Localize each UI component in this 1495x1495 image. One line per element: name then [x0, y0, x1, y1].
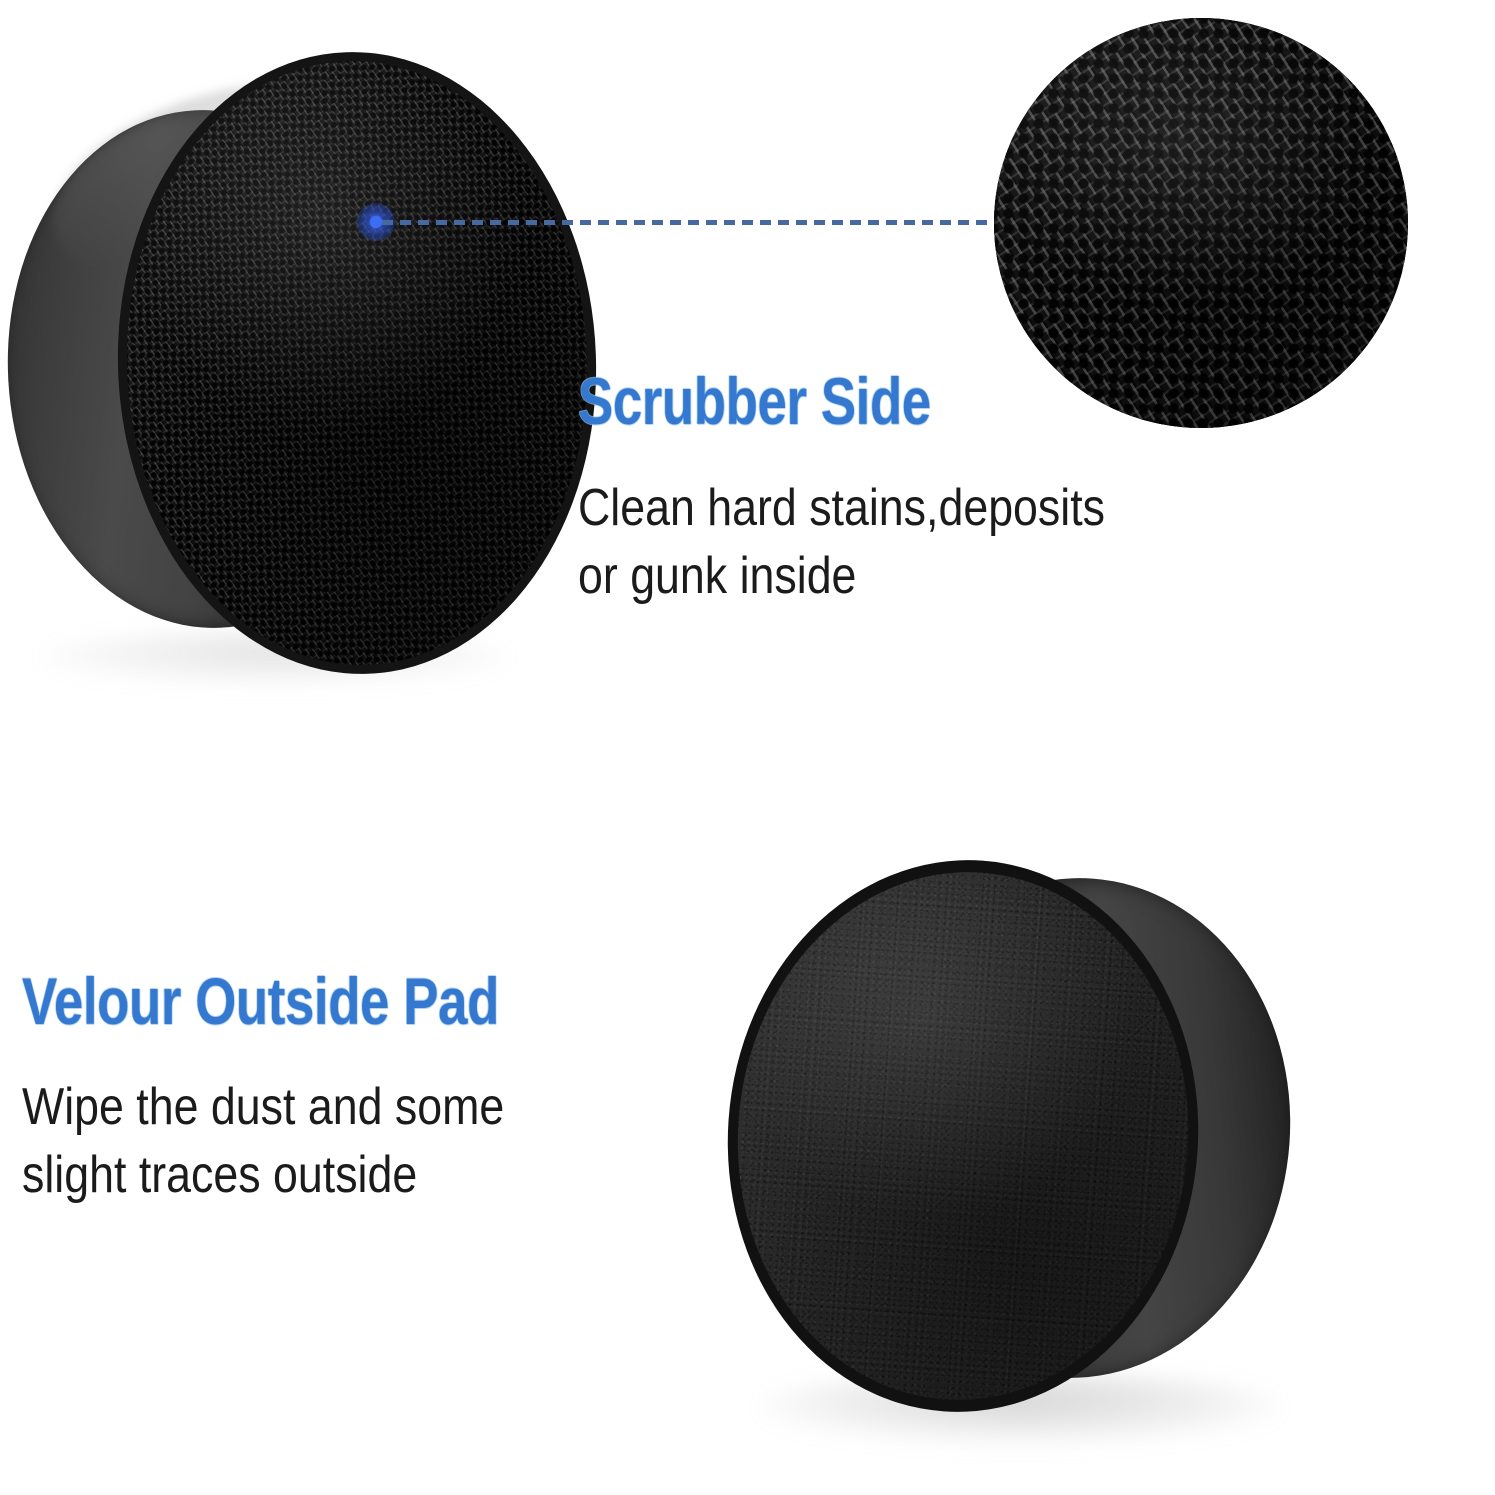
- face-sheen: [115, 50, 598, 676]
- scrubber-heading: Scrubber Side: [578, 368, 1068, 434]
- velour-face: [720, 857, 1206, 1415]
- scrubber-callout-block: Scrubber Side Clean hard stains,deposits…: [578, 368, 1191, 610]
- scrubber-side-pad-image: [8, 58, 588, 668]
- velour-callout-block: Velour Outside Pad Wipe the dust and som…: [22, 968, 618, 1209]
- magnified-face-sheen: [994, 18, 1408, 428]
- velour-face-sheen: [720, 857, 1206, 1415]
- callout-dashed-leader-line: [382, 220, 994, 225]
- velour-heading: Velour Outside Pad: [22, 968, 499, 1034]
- product-infographic: Scrubber Side Clean hard stains,deposits…: [0, 0, 1495, 1495]
- scrubber-description: Clean hard stains,deposits or gunk insid…: [578, 475, 1105, 610]
- scrubber-mesh-face: [115, 50, 598, 676]
- velour-outside-pad-image: [700, 858, 1300, 1418]
- magnified-texture-circle: [994, 18, 1408, 428]
- velour-description: Wipe the dust and some slight traces out…: [22, 1074, 535, 1209]
